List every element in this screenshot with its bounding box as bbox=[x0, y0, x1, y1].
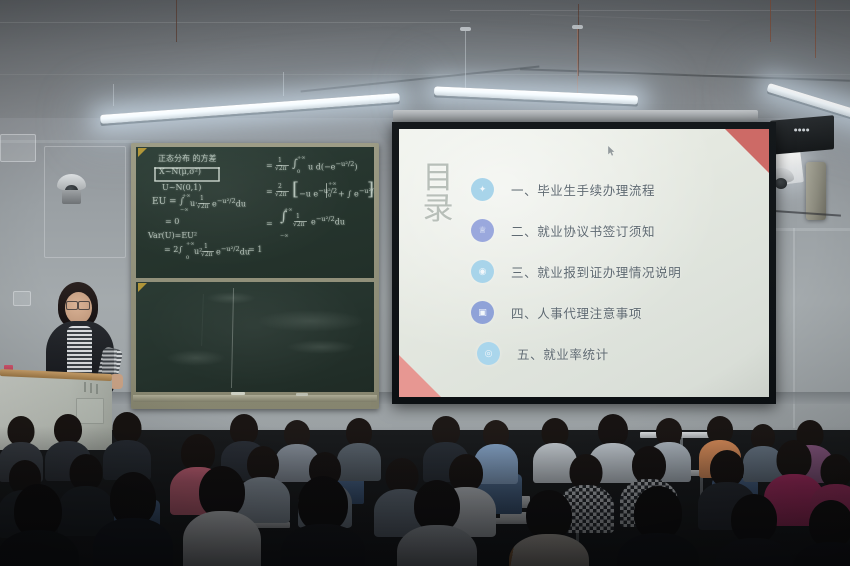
chalk-fraction: 1 bbox=[204, 243, 208, 250]
list-item: ▣ 四、人事代理注意事项 bbox=[471, 292, 759, 333]
presenter-striped-shirt bbox=[67, 326, 92, 378]
ceiling-seam bbox=[0, 22, 470, 23]
chalk-formula: e−u²/2du bbox=[216, 245, 250, 257]
slide-accent-top-right bbox=[725, 129, 769, 173]
chalk-result: = 1 bbox=[248, 245, 262, 254]
wall-speaker bbox=[806, 162, 826, 220]
camera-mount-arm bbox=[62, 190, 81, 204]
chalk-formula: = bbox=[266, 219, 273, 228]
chalk-fraction: 1 bbox=[296, 213, 300, 220]
chalk-fraction: √2π bbox=[201, 251, 213, 258]
chalk-result: = 0 bbox=[165, 217, 179, 226]
crown-icon: ♕ bbox=[471, 219, 494, 242]
ceiling-wire bbox=[176, 0, 177, 42]
window-icon: ▣ bbox=[471, 301, 494, 324]
audience-member bbox=[512, 490, 586, 566]
circle-icon: ◎ bbox=[477, 342, 500, 365]
light-suspension-rod bbox=[465, 30, 466, 92]
light-switch-plate bbox=[13, 291, 31, 306]
blackboard: 正态分布 的方差 X~N(μ,σ²) U~N(0,1) EU = ∫ +∞ −∞… bbox=[131, 143, 379, 409]
projector-screen: 目 录 ✦ 一、毕业生手续办理流程 ♕ 二、就业协议书签订须知 ◉ 三、就业报到… bbox=[392, 122, 776, 404]
blackboard-corner-marker bbox=[138, 148, 147, 157]
slide-heading-char-1: 目 bbox=[415, 163, 461, 194]
dome-security-camera bbox=[57, 174, 86, 204]
list-item-label: 一、毕业生手续办理流程 bbox=[511, 180, 655, 199]
list-item: ◉ 三、就业报到证办理情况说明 bbox=[471, 251, 759, 292]
glasses-icon bbox=[78, 301, 90, 310]
bird-icon: ✦ bbox=[471, 178, 494, 201]
chalk-heading: 正态分布 的方差 bbox=[158, 153, 217, 164]
light-suspension-rod bbox=[113, 84, 114, 106]
audience-row-front bbox=[0, 460, 850, 566]
chalk-fraction: √2π bbox=[275, 165, 287, 172]
slide-heading: 目 录 bbox=[415, 163, 461, 225]
ceiling-seam bbox=[450, 10, 850, 11]
audience-member bbox=[284, 476, 362, 566]
list-item-label: 二、就业协议书签订须知 bbox=[511, 221, 655, 240]
audience-member bbox=[0, 484, 76, 566]
electrical-wall-plate bbox=[0, 134, 36, 162]
chalk-fraction: √2π bbox=[293, 221, 305, 228]
blackboard-upper-panel: 正态分布 的方差 X~N(μ,σ²) U~N(0,1) EU = ∫ +∞ −∞… bbox=[136, 147, 374, 278]
chalk-fraction: √2π bbox=[275, 191, 287, 198]
audience-member bbox=[718, 494, 790, 566]
chalk-fraction: √2π bbox=[197, 203, 209, 210]
chalk-bracket: [ bbox=[292, 181, 299, 199]
list-item-label: 五、就业率统计 bbox=[517, 344, 609, 363]
projector-brand-label: ●●●● bbox=[794, 127, 810, 132]
chalk-bracket: ] bbox=[367, 181, 374, 199]
chalk-formula: = bbox=[266, 187, 273, 196]
list-item: ♕ 二、就业协议书签订须知 bbox=[471, 210, 759, 251]
chalk-limit: +∞ bbox=[284, 207, 292, 213]
glasses-icon bbox=[66, 301, 78, 310]
chalk-fraction: 2 bbox=[278, 183, 282, 190]
chalk-limit: −∞ bbox=[280, 233, 288, 239]
chalk-fraction: 1 bbox=[278, 157, 282, 164]
list-item-label: 三、就业报到证办理情况说明 bbox=[511, 262, 681, 281]
slide-contents-list: ✦ 一、毕业生手续办理流程 ♕ 二、就业协议书签订须知 ◉ 三、就业报到证办理情… bbox=[471, 169, 759, 374]
audience-member bbox=[186, 466, 258, 566]
chalk-stick bbox=[231, 392, 245, 395]
camera-lens bbox=[775, 178, 787, 189]
chalk-formula: −u e−u²/2 bbox=[299, 187, 337, 199]
slide-heading-char-2: 录 bbox=[415, 194, 461, 225]
light-suspension-rod bbox=[283, 72, 284, 96]
classroom-photo: ●●●● 正态分布 的方差 X~N(μ,σ²) U~N(0,1) EU = ∫ … bbox=[0, 0, 850, 566]
blackboard-corner-marker bbox=[138, 283, 147, 292]
projector-screen-roller bbox=[393, 110, 758, 122]
chalk-formula: e−u²/2du bbox=[311, 215, 345, 227]
list-item: ✦ 一、毕业生手续办理流程 bbox=[471, 169, 759, 210]
audience-member bbox=[796, 500, 850, 566]
chalk-fraction: 1 bbox=[200, 195, 204, 202]
chalk-formula: = bbox=[266, 161, 273, 170]
audience-member bbox=[400, 480, 474, 566]
list-item: ◎ 五、就业率统计 bbox=[471, 333, 759, 374]
chalk-limit: 0 bbox=[328, 193, 331, 199]
chalk-formula: u d(−e−u²/2) bbox=[308, 160, 358, 172]
audience-member bbox=[96, 472, 170, 566]
chalk-formula-boxed: X~N(μ,σ²) bbox=[159, 167, 201, 176]
chalk-formula: = 2∫ bbox=[164, 245, 183, 254]
ceiling-wire bbox=[770, 0, 771, 42]
projector-housing bbox=[770, 115, 834, 155]
slide-accent-bottom-left bbox=[399, 355, 441, 397]
ceiling-wire bbox=[815, 0, 816, 58]
mouse-pointer-icon bbox=[608, 146, 615, 156]
camera-icon: ◉ bbox=[471, 260, 494, 283]
chalk-limit: +∞ bbox=[328, 181, 336, 187]
chalk-formula: EU = ∫ bbox=[152, 197, 184, 207]
chalk-formula: U~N(0,1) bbox=[162, 183, 201, 192]
chalk-formula: Var(U)=EU² bbox=[148, 231, 197, 240]
chalk-limit: 0 bbox=[297, 169, 300, 175]
blackboard-lower-panel bbox=[136, 282, 374, 392]
chalk-eraser bbox=[296, 393, 308, 396]
chalk-limit: −∞ bbox=[180, 207, 188, 213]
chalk-formula: e−u²/2du bbox=[212, 197, 246, 209]
list-item-label: 四、人事代理注意事项 bbox=[511, 303, 642, 322]
chalk-limit: 0 bbox=[186, 255, 189, 261]
chalk-limit: +∞ bbox=[297, 155, 305, 161]
light-suspension-rod bbox=[577, 28, 578, 98]
audience-member bbox=[620, 486, 696, 566]
light-ceiling-mount bbox=[572, 25, 583, 29]
light-ceiling-mount bbox=[460, 27, 471, 31]
ceiling bbox=[0, 0, 850, 118]
presentation-slide: 目 录 ✦ 一、毕业生手续办理流程 ♕ 二、就业协议书签订须知 ◉ 三、就业报到… bbox=[399, 129, 769, 397]
